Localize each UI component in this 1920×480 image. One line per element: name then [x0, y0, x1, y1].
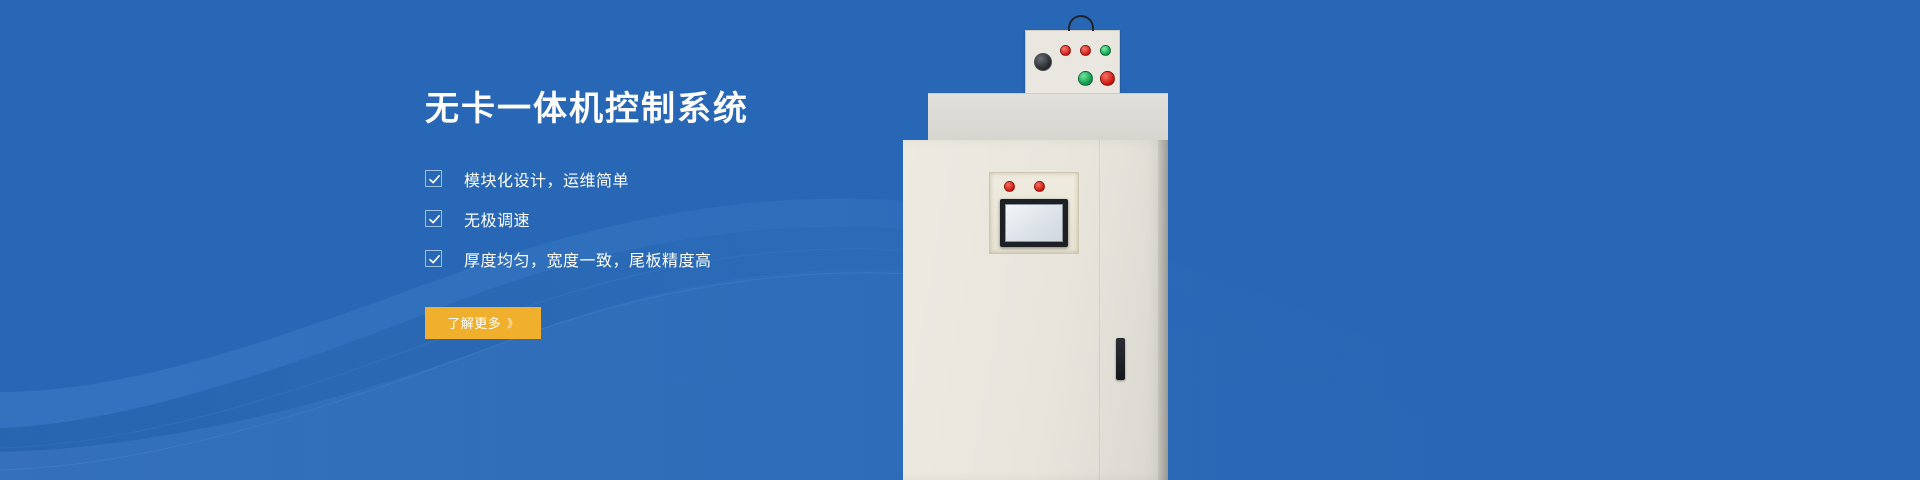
cabinet-door-handle[interactable]	[1116, 338, 1125, 380]
indicator-lamp-red-2	[1080, 45, 1091, 56]
learn-more-button[interactable]: 了解更多 》	[425, 307, 541, 339]
checkbox-checked-icon	[425, 250, 442, 267]
push-button-red[interactable]	[1100, 71, 1115, 86]
cabinet-body	[903, 140, 1168, 480]
learn-more-label: 了解更多	[447, 313, 501, 332]
feature-label: 模块化设计，运维简单	[464, 167, 629, 191]
panel-button-red-2[interactable]	[1034, 181, 1045, 192]
checkbox-checked-icon	[425, 210, 442, 227]
cable-loop-icon	[1068, 15, 1094, 31]
cabinet-riser	[928, 93, 1168, 143]
panel-button-red-1[interactable]	[1004, 181, 1015, 192]
feature-label: 无极调速	[464, 207, 530, 231]
hero-banner: 无卡一体机控制系统 模块化设计，运维简单 无极调速	[0, 0, 1920, 480]
machine-photo	[900, 0, 1200, 480]
screen-glass	[1005, 204, 1063, 242]
indicator-lamp-red-1	[1060, 45, 1071, 56]
indicator-lamp-green	[1100, 45, 1111, 56]
control-box	[1025, 30, 1120, 100]
push-button-green[interactable]	[1078, 71, 1093, 86]
hmi-panel	[989, 172, 1079, 254]
checkbox-checked-icon	[425, 170, 442, 187]
cabinet-seam	[1099, 140, 1100, 480]
feature-label: 厚度均匀，宽度一致，尾板精度高	[464, 247, 712, 271]
hmi-touchscreen[interactable]	[1000, 199, 1068, 247]
rotary-selector-knob[interactable]	[1034, 53, 1052, 71]
cabinet-right-edge	[1158, 140, 1168, 480]
chevron-right-icon: 》	[507, 315, 519, 331]
